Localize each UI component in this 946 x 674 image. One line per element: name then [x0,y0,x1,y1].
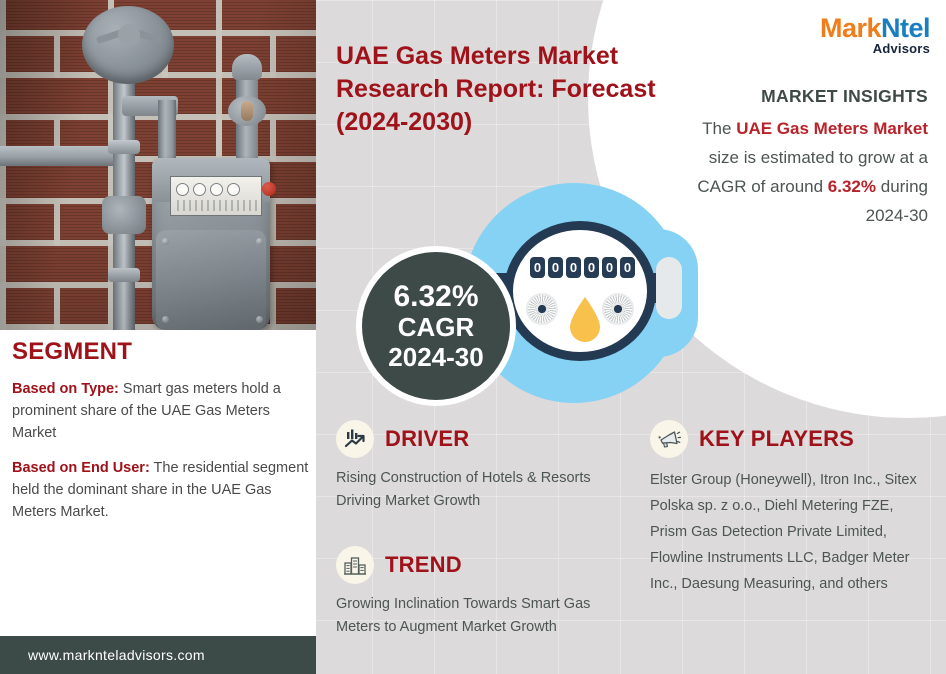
market-insights-body: The UAE Gas Meters Market size is estima… [690,114,928,230]
driver-card: DRIVER Rising Construction of Hotels & R… [336,420,626,513]
megaphone-icon [650,420,688,458]
city-buildings-svg [343,553,367,577]
insights-text-3: is estimated to grow [744,148,895,167]
meter-mini-dial-right [602,293,634,325]
left-panel: SEGMENT Based on Type: Smart gas meters … [0,0,316,674]
brand-logo[interactable]: MarkNtel Advisors [820,14,930,56]
odometer-digit: 0 [620,257,635,278]
odometer-digit: 0 [548,257,563,278]
cagr-badge: 6.32% CAGR 2024-30 [356,246,516,406]
logo-subtitle: Advisors [820,41,930,56]
insights-bold-1: UAE Gas [736,119,809,138]
insights-text-5: around [770,177,828,196]
logo-wordmark: MarkNtel [820,14,930,43]
droplet-svg [566,295,604,343]
key-players-card-header: KEY PLAYERS [650,420,932,458]
meter-connector-right [656,257,682,319]
meter-mini-dial-left [526,293,558,325]
market-insights-heading: MARKET INSIGHTS [690,86,928,107]
insights-text-1: The [702,119,736,138]
logo-ntel-text: Ntel [881,13,930,43]
insights-bold-2: Meters Market [814,119,928,138]
cagr-percent: 6.32% [393,280,478,313]
key-players-card-body: Elster Group (Honeywell), Itron Inc., Si… [650,467,932,597]
key-players-card-title: KEY PLAYERS [699,426,854,452]
gas-droplet-icon [566,295,604,343]
growth-chart-svg [343,427,367,451]
growth-chart-icon [336,420,374,458]
footer-bar: www.marknteladvisors.com [0,636,316,674]
trend-card: TREND Growing Inclination Towards Smart … [336,546,626,639]
gas-meter-photo [0,0,316,330]
odometer-digit: 0 [566,257,581,278]
megaphone-svg [657,427,681,451]
insights-bold-3: 6.32% [828,177,876,196]
odometer-digit: 0 [530,257,545,278]
website-url[interactable]: www.marknteladvisors.com [28,647,205,663]
segment-item-enduser: Based on End User: The residential segme… [12,457,312,523]
market-insights-section: MARKET INSIGHTS The UAE Gas Meters Marke… [690,86,928,230]
logo-mark-text: Mark [820,13,881,43]
trend-card-header: TREND [336,546,626,584]
infographic-root: SEGMENT Based on Type: Smart gas meters … [0,0,946,674]
segment-section: SEGMENT Based on Type: Smart gas meters … [12,338,312,536]
driver-card-title: DRIVER [385,426,469,452]
page-title: UAE Gas Meters Market Research Report: F… [336,40,686,139]
cagr-label: CAGR [398,313,475,342]
segment-heading: SEGMENT [12,338,312,366]
odometer-display: 0 0 0 0 0 0 [530,257,635,278]
cagr-years: 2024-30 [388,342,483,372]
city-buildings-icon [336,546,374,584]
insights-text-2: size [709,148,739,167]
photo-vignette [0,0,316,330]
segment-item-type-label: Based on Type: [12,381,119,397]
segment-item-type: Based on Type: Smart gas meters hold a p… [12,378,312,444]
key-players-card: KEY PLAYERS Elster Group (Honeywell), It… [650,420,932,597]
driver-card-header: DRIVER [336,420,626,458]
segment-item-enduser-label: Based on End User: [12,460,150,476]
trend-card-title: TREND [385,552,462,578]
driver-card-body: Rising Construction of Hotels & Resorts … [336,467,626,513]
odometer-digit: 0 [602,257,617,278]
trend-card-body: Growing Inclination Towards Smart Gas Me… [336,593,626,639]
odometer-digit: 0 [584,257,599,278]
